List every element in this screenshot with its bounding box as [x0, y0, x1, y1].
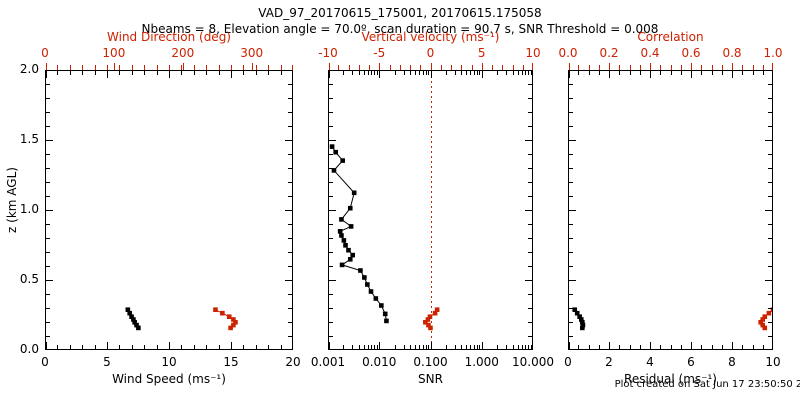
axis-tick	[650, 71, 651, 75]
y-tick-label: 0.0	[20, 342, 39, 356]
axis-tick	[513, 71, 514, 75]
x-tick-label: 10	[161, 355, 176, 369]
axis-tick	[95, 345, 96, 349]
axis-tick	[390, 65, 391, 70]
axis-tick	[231, 65, 232, 70]
x-tick-label-top: 5	[478, 46, 486, 60]
axis-tick	[46, 238, 50, 239]
axis-tick	[525, 345, 526, 349]
panel-wind	[45, 70, 293, 350]
axis-tick	[46, 308, 50, 309]
axis-tick	[415, 71, 416, 75]
axis-tick	[569, 252, 573, 253]
axis-tick	[288, 252, 292, 253]
axis-tick	[660, 345, 661, 349]
axis-tick	[329, 342, 330, 349]
axis-tick	[701, 65, 702, 70]
axis-tick	[46, 98, 50, 99]
axis-tick	[288, 196, 292, 197]
axis-tick	[701, 71, 702, 75]
data-series-residual	[572, 307, 585, 330]
axis-tick	[82, 71, 83, 75]
axis-tick	[619, 345, 620, 349]
axis-tick	[268, 65, 269, 70]
axis-tick	[46, 154, 50, 155]
axis-tick	[371, 345, 372, 349]
axis-tick	[292, 342, 293, 349]
axis-tick	[428, 71, 429, 75]
x-tick-label-top: 0.0	[558, 46, 577, 60]
axis-tick	[288, 336, 292, 337]
x-tick-label: 5	[103, 355, 111, 369]
axis-tick	[525, 140, 532, 141]
axis-tick	[206, 71, 207, 75]
axis-tick	[528, 266, 532, 267]
x-tick-label: 2	[605, 355, 613, 369]
data-point	[330, 144, 335, 149]
axis-tick	[194, 345, 195, 349]
data-point	[339, 217, 344, 222]
axis-tick	[288, 126, 292, 127]
axis-tick	[46, 252, 50, 253]
data-point	[383, 312, 388, 317]
axis-tick	[288, 168, 292, 169]
y-tick-label: 1.0	[20, 202, 39, 216]
axis-tick	[70, 65, 71, 70]
x-tick-label-top: 1.0	[763, 46, 782, 60]
axis-tick	[206, 345, 207, 349]
axis-tick	[252, 63, 253, 70]
axis-tick	[599, 345, 600, 349]
axis-tick	[640, 71, 641, 75]
axis-tick	[181, 71, 182, 75]
data-point	[338, 229, 343, 234]
data-point	[350, 253, 355, 258]
series-layer	[329, 71, 532, 349]
axis-tick	[70, 345, 71, 349]
axis-tick	[359, 71, 360, 75]
axis-tick	[569, 70, 576, 71]
axis-tick	[419, 71, 420, 75]
axis-tick	[569, 280, 576, 281]
axis-tick	[671, 65, 672, 70]
axis-tick	[446, 345, 447, 349]
axis-tick	[288, 210, 292, 211]
axis-tick	[292, 65, 293, 70]
x-tick-label: 0	[564, 355, 572, 369]
axis-tick	[497, 71, 498, 75]
axis-tick	[630, 345, 631, 349]
x-tick-label-top: -10	[318, 46, 338, 60]
axis-tick	[461, 71, 462, 75]
axis-tick	[183, 63, 184, 70]
axis-tick	[569, 308, 573, 309]
data-point	[428, 326, 433, 331]
axis-tick	[671, 345, 672, 349]
data-point	[213, 307, 218, 312]
y-tick-label: 0.5	[20, 272, 39, 286]
x-tick-label-top: 0	[41, 46, 49, 60]
axis-tick	[477, 345, 478, 349]
axis-tick	[532, 71, 533, 78]
axis-tick	[528, 252, 532, 253]
axis-tick	[329, 65, 330, 70]
axis-tick	[497, 345, 498, 349]
data-point	[228, 326, 233, 331]
data-point	[333, 150, 338, 155]
axis-tick	[531, 345, 532, 349]
axis-tick	[528, 322, 532, 323]
axis-tick	[169, 345, 170, 349]
axis-tick	[46, 168, 50, 169]
axis-tick	[169, 65, 170, 70]
y-axis-label: z (km AGL)	[5, 167, 19, 233]
axis-tick	[169, 71, 170, 75]
axis-tick	[765, 280, 772, 281]
axis-tick	[288, 266, 292, 267]
axis-tick	[569, 336, 573, 337]
axis-tick	[329, 168, 333, 169]
axis-tick	[288, 182, 292, 183]
axis-tick	[451, 65, 452, 70]
axis-tick	[528, 98, 532, 99]
axis-tick	[569, 196, 573, 197]
data-point	[339, 233, 344, 238]
axis-tick	[768, 168, 772, 169]
axis-tick	[589, 71, 590, 75]
data-point	[340, 263, 345, 268]
axis-tick	[763, 71, 764, 75]
axis-tick	[219, 71, 220, 75]
x-tick-label-top: 0.8	[722, 46, 741, 60]
data-point	[358, 268, 363, 273]
axis-tick	[768, 182, 772, 183]
axis-tick	[528, 210, 532, 211]
axis-tick	[768, 322, 772, 323]
axis-tick	[371, 71, 372, 75]
data-point	[342, 238, 347, 243]
axis-tick	[589, 345, 590, 349]
axis-tick	[181, 345, 182, 349]
data-point	[227, 314, 232, 319]
axis-tick	[578, 71, 579, 75]
x-tick-label-top: -5	[373, 46, 385, 60]
axis-tick	[619, 65, 620, 70]
axis-tick	[288, 322, 292, 323]
axis-tick	[578, 345, 579, 349]
axis-tick	[712, 71, 713, 75]
axis-tick	[410, 71, 411, 75]
axis-tick	[712, 345, 713, 349]
axis-tick	[379, 65, 380, 70]
axis-tick	[329, 154, 333, 155]
axis-tick	[768, 266, 772, 267]
x-tick-label: 0.010	[362, 355, 396, 369]
axis-tick	[569, 154, 573, 155]
axis-tick	[768, 196, 772, 197]
axis-tick	[722, 345, 723, 349]
axis-tick	[599, 71, 600, 75]
axis-tick	[768, 154, 772, 155]
axis-tick	[528, 196, 532, 197]
axis-tick	[609, 71, 610, 75]
axis-tick	[722, 65, 723, 70]
axis-tick	[377, 71, 378, 75]
axis-tick	[395, 71, 396, 75]
axis-tick	[506, 345, 507, 349]
axis-tick	[763, 65, 764, 70]
axis-tick	[772, 342, 773, 349]
axis-tick	[472, 65, 473, 70]
axis-tick	[329, 224, 333, 225]
axis-tick	[57, 345, 58, 349]
x-tick-label: 0	[41, 355, 49, 369]
axis-tick	[70, 71, 71, 75]
panel-snr-plot-area	[329, 71, 532, 349]
axis-tick	[285, 349, 292, 350]
axis-tick	[479, 345, 480, 349]
panel-wind-plot-area	[46, 71, 292, 349]
axis-tick	[569, 182, 573, 183]
data-point	[348, 206, 353, 211]
axis-tick	[415, 345, 416, 349]
panel-snr	[328, 70, 533, 350]
x-axis-label-top: Wind Direction (deg)	[107, 30, 231, 44]
axis-tick	[528, 345, 529, 349]
axis-tick	[650, 65, 651, 70]
x-tick-label-top: 0	[427, 46, 435, 60]
axis-tick	[181, 65, 182, 70]
axis-tick	[681, 345, 682, 349]
axis-tick	[712, 65, 713, 70]
x-tick-label-top: 200	[171, 46, 194, 60]
axis-tick	[329, 112, 333, 113]
axis-tick	[470, 71, 471, 75]
data-point	[384, 319, 389, 324]
axis-tick	[523, 65, 524, 70]
axis-tick	[243, 345, 244, 349]
axis-tick	[479, 71, 480, 75]
axis-tick	[206, 65, 207, 70]
x-tick-label: 1.000	[465, 355, 499, 369]
axis-tick	[292, 71, 293, 78]
axis-tick	[420, 65, 421, 70]
data-point	[365, 282, 370, 287]
axis-tick	[194, 71, 195, 75]
axis-tick	[569, 140, 576, 141]
axis-tick	[772, 65, 773, 70]
axis-tick	[630, 65, 631, 70]
axis-tick	[528, 126, 532, 127]
axis-tick	[410, 65, 411, 70]
axis-tick	[513, 65, 514, 70]
axis-tick	[343, 71, 344, 75]
x-axis-label-top: Vertical velocity (ms⁻¹)	[362, 30, 500, 44]
axis-tick	[46, 210, 50, 211]
axis-tick	[374, 71, 375, 75]
axis-tick	[329, 280, 336, 281]
axis-tick	[569, 126, 573, 127]
axis-tick	[256, 71, 257, 75]
x-tick-label: 20	[285, 355, 300, 369]
axis-tick	[219, 65, 220, 70]
axis-tick	[157, 65, 158, 70]
axis-tick	[768, 126, 772, 127]
axis-tick	[619, 71, 620, 75]
axis-tick	[82, 65, 83, 70]
axis-tick	[569, 349, 576, 350]
axis-tick	[46, 182, 50, 183]
axis-tick	[518, 345, 519, 349]
axis-tick	[352, 345, 353, 349]
axis-tick	[691, 71, 692, 75]
data-point	[220, 311, 225, 316]
axis-tick	[119, 71, 120, 75]
axis-tick	[528, 168, 532, 169]
axis-tick	[431, 65, 432, 70]
axis-tick	[144, 65, 145, 70]
axis-tick	[569, 210, 573, 211]
data-point	[580, 326, 585, 331]
axis-tick	[288, 154, 292, 155]
axis-tick	[57, 71, 58, 75]
axis-tick	[742, 65, 743, 70]
axis-tick	[753, 71, 754, 75]
axis-tick	[522, 71, 523, 75]
axis-tick	[368, 345, 369, 349]
axis-tick	[532, 342, 533, 349]
x-tick-label-top: 0.6	[681, 46, 700, 60]
x-axis-label: Residual (ms⁻¹)	[624, 372, 717, 386]
axis-tick	[650, 345, 651, 349]
axis-tick	[466, 345, 467, 349]
data-point	[349, 224, 354, 229]
axis-tick	[107, 345, 108, 349]
axis-tick	[329, 322, 333, 323]
axis-tick	[419, 345, 420, 349]
axis-tick	[288, 224, 292, 225]
axis-tick	[379, 342, 380, 349]
data-point	[340, 158, 345, 163]
axis-tick	[768, 224, 772, 225]
axis-tick	[281, 71, 282, 75]
x-tick-label: 10.000	[512, 355, 554, 369]
axis-tick	[428, 345, 429, 349]
axis-tick	[474, 71, 475, 75]
axis-tick	[157, 345, 158, 349]
axis-tick	[569, 98, 573, 99]
x-tick-label: 6	[687, 355, 695, 369]
axis-tick	[569, 168, 573, 169]
axis-tick	[502, 65, 503, 70]
axis-tick	[681, 71, 682, 75]
axis-tick	[768, 238, 772, 239]
axis-tick	[329, 84, 333, 85]
axis-tick	[640, 345, 641, 349]
data-series-wind-direction	[213, 307, 238, 330]
axis-tick	[528, 71, 529, 75]
axis-tick	[441, 65, 442, 70]
axis-tick	[477, 71, 478, 75]
axis-tick	[285, 70, 292, 71]
axis-tick	[119, 65, 120, 70]
x-axis-label-top: Correlation	[637, 30, 703, 44]
axis-tick	[742, 71, 743, 75]
y-tick-label: 1.5	[20, 132, 39, 146]
axis-tick	[359, 345, 360, 349]
axis-tick	[701, 345, 702, 349]
axis-tick	[569, 65, 570, 70]
axis-tick	[528, 154, 532, 155]
axis-tick	[609, 65, 610, 70]
axis-tick	[569, 84, 573, 85]
axis-tick	[329, 140, 336, 141]
axis-tick	[691, 65, 692, 70]
x-tick-label: 10	[765, 355, 780, 369]
axis-tick	[525, 349, 532, 350]
axis-tick	[338, 65, 339, 70]
data-point	[433, 311, 438, 316]
axis-tick	[46, 224, 50, 225]
axis-tick	[772, 71, 773, 78]
x-tick-label: 0.100	[413, 355, 447, 369]
axis-tick	[256, 345, 257, 349]
axis-tick	[599, 65, 600, 70]
axis-tick	[474, 345, 475, 349]
axis-tick	[379, 71, 380, 78]
x-tick-label-top: 300	[240, 46, 263, 60]
axis-tick	[132, 345, 133, 349]
axis-tick	[404, 71, 405, 75]
axis-tick	[404, 345, 405, 349]
axis-tick	[768, 336, 772, 337]
axis-tick	[243, 65, 244, 70]
y-tick-label: 2.0	[20, 62, 39, 76]
x-axis-label: Wind Speed (ms⁻¹)	[112, 372, 226, 386]
axis-tick	[609, 345, 610, 349]
axis-tick	[46, 196, 50, 197]
data-point	[767, 311, 772, 316]
axis-tick	[569, 294, 573, 295]
axis-tick	[364, 71, 365, 75]
axis-tick	[288, 294, 292, 295]
axis-tick	[114, 63, 115, 70]
axis-tick	[329, 336, 333, 337]
axis-tick	[194, 65, 195, 70]
axis-tick	[82, 345, 83, 349]
data-point	[348, 257, 353, 262]
x-tick-label: 8	[728, 355, 736, 369]
axis-tick	[144, 71, 145, 75]
axis-tick	[742, 345, 743, 349]
data-series-wind-speed	[126, 307, 141, 330]
axis-tick	[329, 349, 336, 350]
axis-tick	[46, 84, 50, 85]
axis-tick	[423, 71, 424, 75]
axis-tick	[569, 322, 573, 323]
axis-tick	[765, 70, 772, 71]
axis-tick	[288, 84, 292, 85]
axis-tick	[681, 65, 682, 70]
axis-tick	[765, 349, 772, 350]
axis-tick	[268, 71, 269, 75]
axis-tick	[466, 71, 467, 75]
axis-tick	[288, 238, 292, 239]
axis-tick	[364, 345, 365, 349]
data-series-vertical-velocity	[423, 307, 439, 330]
data-point	[352, 191, 357, 196]
axis-tick	[528, 308, 532, 309]
